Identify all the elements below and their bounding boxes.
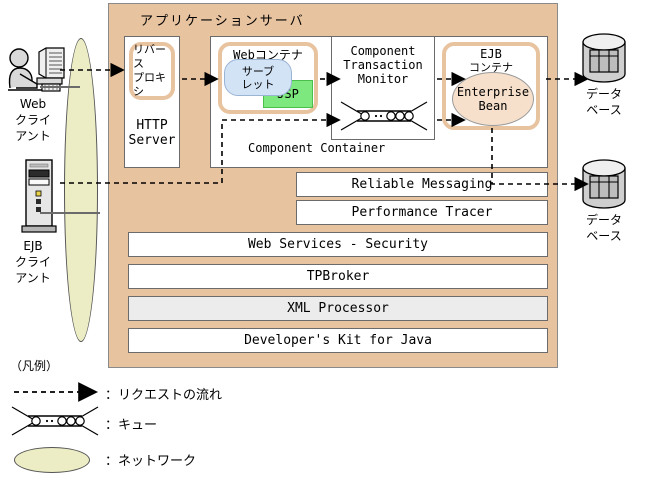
legend-queue-icon [10, 405, 100, 437]
arrow-bean-to-database-bottom [492, 128, 576, 184]
legend-label-network: ：ネットワーク [105, 450, 196, 469]
legend-label-request-flow: ：リクエストの流れ [105, 384, 222, 403]
legend-title: （凡例） [10, 357, 58, 374]
legend-ellipse-icon [14, 447, 90, 473]
arrow-ejbclient-to-queue [60, 120, 328, 183]
legend-label-queue: ：キュー [105, 414, 157, 433]
legend-dashed-arrow-icon [12, 385, 97, 399]
